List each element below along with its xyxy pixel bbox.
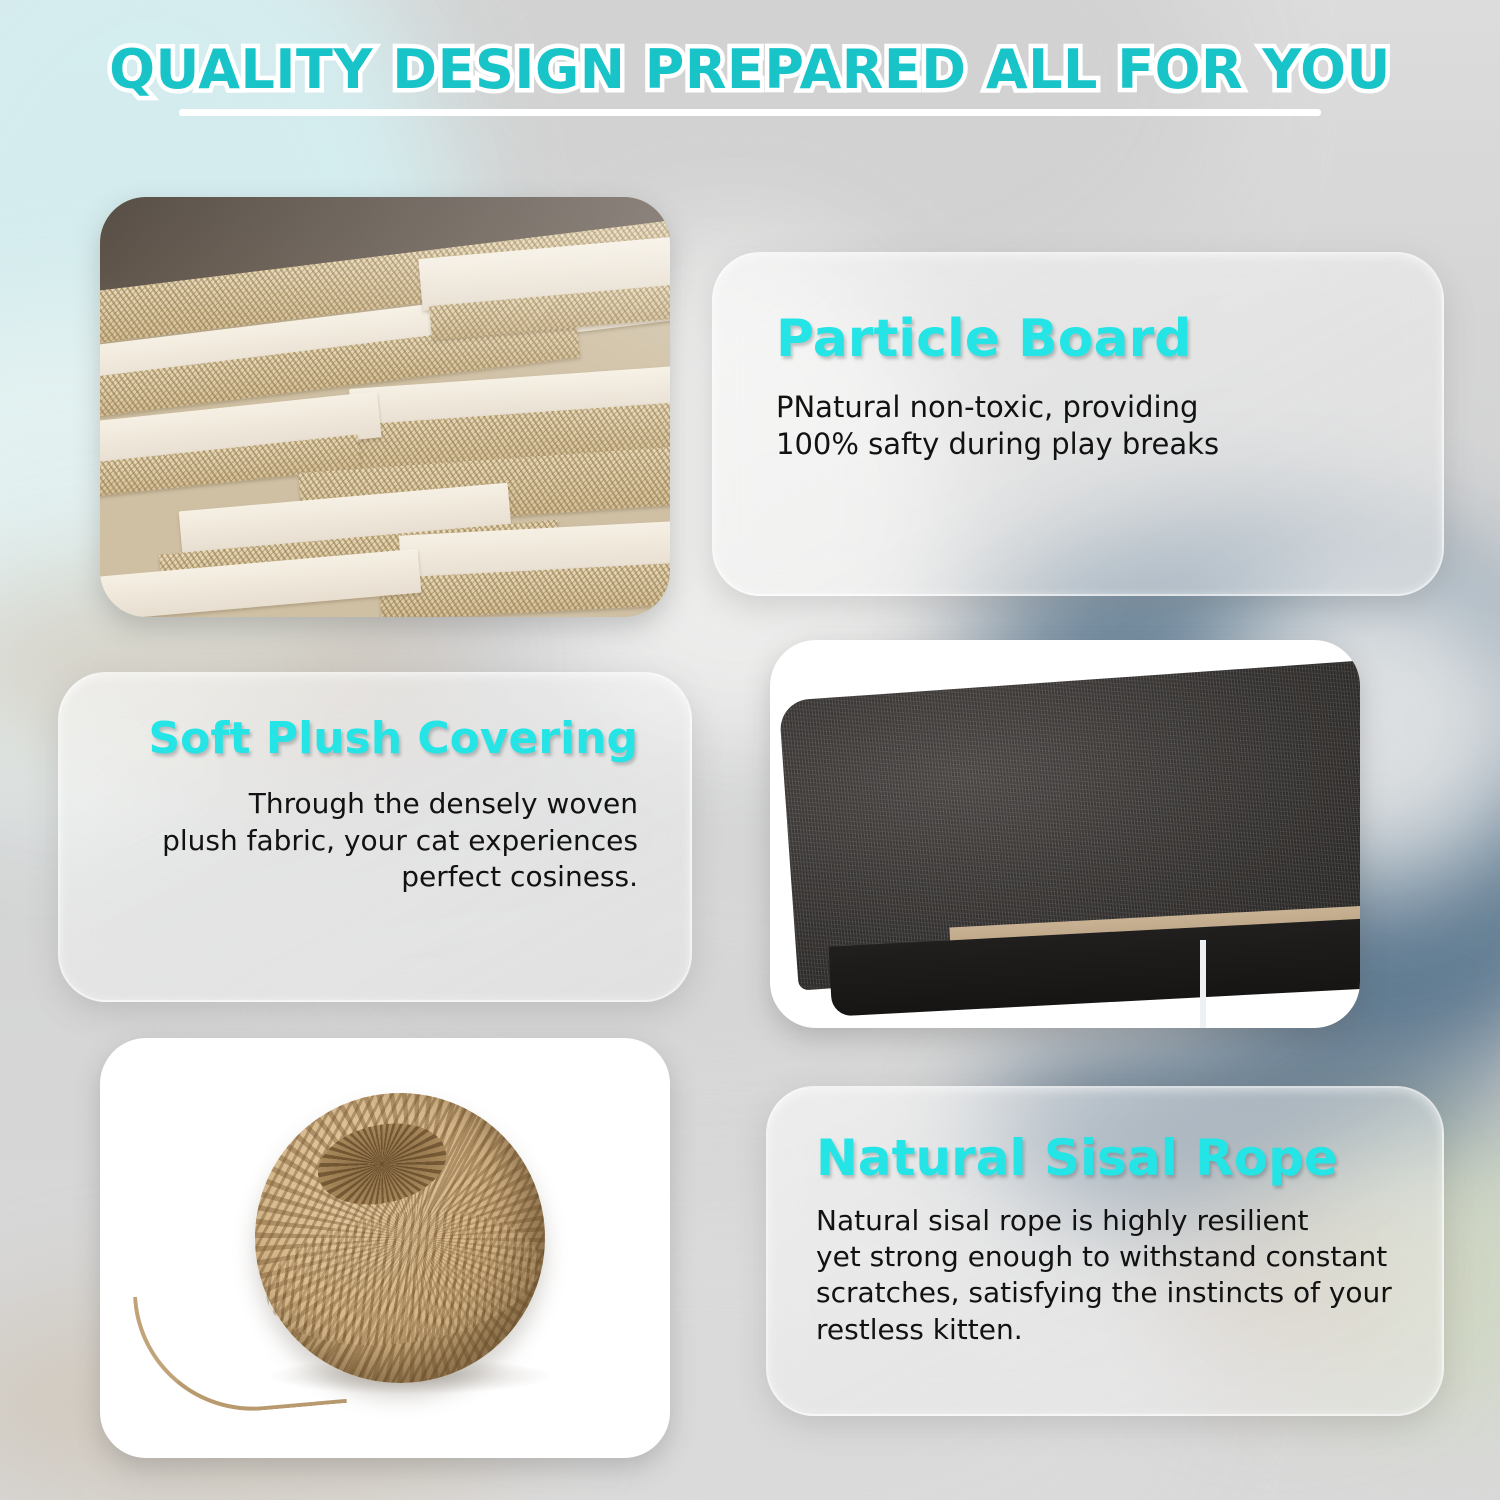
particle-board-image <box>100 197 670 617</box>
feature-card-natural-sisal-rope: Natural Sisal Rope Natural sisal rope is… <box>766 1086 1444 1416</box>
image-detail <box>1200 940 1206 1028</box>
feature-title-particle-board: Particle Board <box>776 312 1398 367</box>
sisal-rope-image <box>100 1038 670 1458</box>
plush-fabric-image <box>770 640 1360 1028</box>
image-detail <box>255 1093 545 1383</box>
page-title: QUALITY DESIGN PREPARED ALL FOR YOU <box>0 42 1500 99</box>
image-detail <box>257 1194 547 1361</box>
feature-description-natural-sisal-rope: Natural sisal rope is highly resilient y… <box>816 1203 1408 1349</box>
feature-title-natural-sisal-rope: Natural Sisal Rope <box>816 1132 1408 1185</box>
feature-title-soft-plush-covering: Soft Plush Covering <box>104 716 638 762</box>
feature-description-soft-plush-covering: Through the densely woven plush fabric, … <box>104 786 638 895</box>
feature-card-soft-plush-covering: Soft Plush Covering Through the densely … <box>58 672 692 1002</box>
image-detail <box>100 197 670 617</box>
image-detail <box>310 1112 453 1215</box>
feature-card-particle-board: Particle Board PNatural non-toxic, provi… <box>712 252 1444 596</box>
product-feature-infographic: QUALITY DESIGN PREPARED ALL FOR YOU Part… <box>0 0 1500 1500</box>
title-underline-rule <box>179 109 1321 116</box>
banner-header: QUALITY DESIGN PREPARED ALL FOR YOU <box>0 42 1500 116</box>
feature-description-particle-board: PNatural non-toxic, providing 100% safty… <box>776 389 1398 464</box>
